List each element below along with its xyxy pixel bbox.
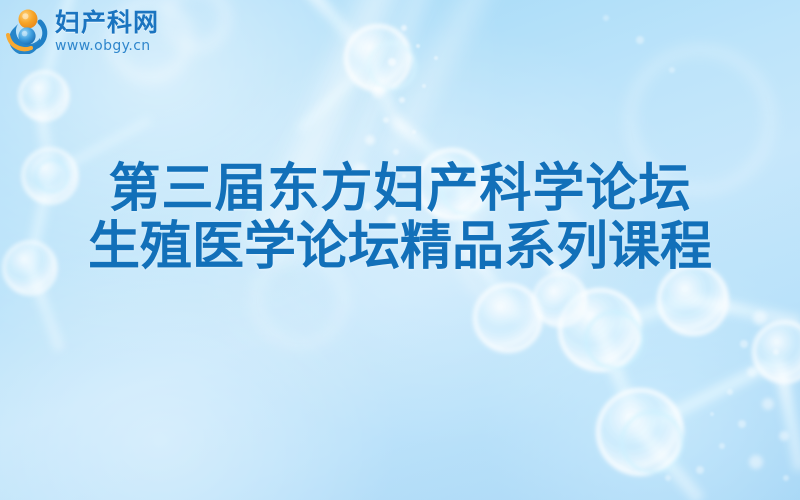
light-particle [365,135,375,145]
light-particle [740,340,748,348]
light-particle [747,367,757,377]
logo-site-name: 妇产科网 [55,10,159,35]
page-title: 第三届东方妇产科学论坛 生殖医学论坛精品系列课程 [0,160,800,276]
light-particle [696,466,704,474]
light-particle [779,431,789,441]
light-particle [719,443,725,449]
light-particle [603,15,609,21]
site-logo[interactable]: 妇产科网 www.obgy.cn [6,8,159,54]
light-particle [665,475,671,481]
light-particle [372,86,384,98]
headline-line-2: 生殖医学论坛精品系列课程 [0,218,800,276]
light-particle [783,475,789,481]
light-particle [636,36,644,44]
headline-line-1: 第三届东方妇产科学论坛 [0,160,800,218]
light-particle [388,58,396,66]
light-particle [383,117,389,123]
light-particle [412,130,416,134]
logo-site-url: www.obgy.cn [55,39,159,53]
light-particle [710,412,714,416]
logo-mark-icon [6,8,50,54]
light-particle [401,25,407,31]
light-particle [762,398,774,410]
light-wash-bottom-left [0,240,400,500]
light-particle [749,455,763,469]
light-particle [422,84,426,88]
light-ray [372,0,533,165]
light-particle [399,97,405,103]
light-particle [434,56,438,60]
light-particle [738,420,746,428]
light-particle [773,349,779,355]
light-particle [727,389,733,395]
light-particle [393,149,399,155]
light-particle [416,44,420,48]
promo-banner: 妇产科网 www.obgy.cn 第三届东方妇产科学论坛 生殖医学论坛精品系列课… [0,0,800,500]
logo-text-block: 妇产科网 www.obgy.cn [55,10,159,53]
light-particle [753,311,767,325]
light-particle [669,67,675,73]
